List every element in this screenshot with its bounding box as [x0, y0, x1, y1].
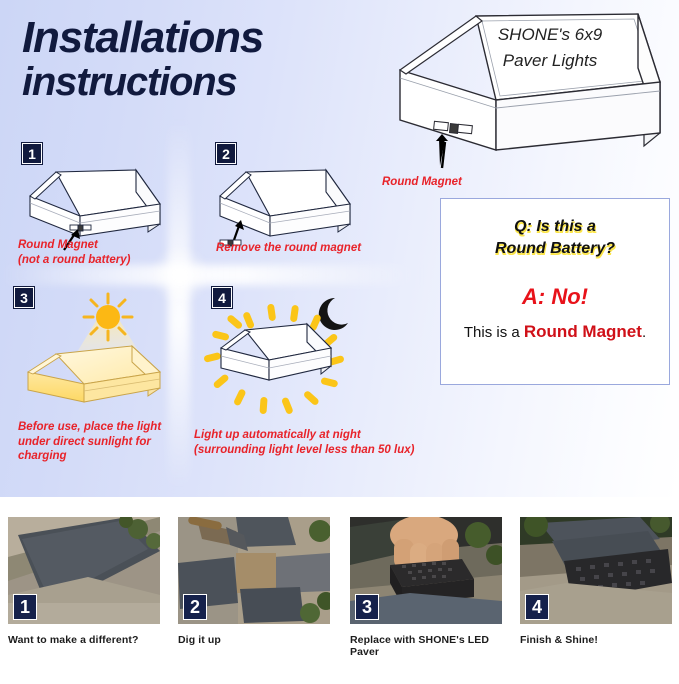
photo-badge-2: 2: [183, 594, 207, 620]
paver-box-with-magnet-icon: [28, 168, 173, 248]
photo-cell-4: 4 Finish & Shine!: [520, 517, 672, 646]
step-2-caption: Remove the round magnet: [216, 241, 416, 256]
title-line-2: instructions: [22, 63, 402, 102]
qa-question-line-1: Q: Is this a: [495, 216, 615, 238]
step-1-illustration: [28, 168, 173, 248]
moon-icon: [319, 298, 348, 330]
qa-question-line-2: Round Battery?: [495, 238, 615, 260]
step-3-illustration: [22, 292, 187, 407]
photo-badge-3: 3: [355, 594, 379, 620]
glowing-paver-moon-icon: [185, 290, 370, 420]
photo-thumbnail-3: 3: [350, 517, 502, 624]
product-label-line-2: Paver Lights: [455, 48, 645, 74]
photo-cell-1: 1 Want to make a different?: [8, 517, 160, 646]
photo-caption-3: Replace with SHONE's LED Paver: [350, 634, 502, 658]
qa-statement-highlight: Round Magnet: [524, 322, 642, 341]
photo-caption-1: Want to make a different?: [8, 634, 160, 646]
step-badge-1: 1: [22, 143, 42, 164]
photo-thumbnail-1: 1: [8, 517, 160, 624]
round-magnet-detail: [70, 225, 91, 231]
step-4-caption: Light up automatically at night (surroun…: [194, 428, 434, 457]
photo-cell-2: 2 Dig it up: [178, 517, 330, 646]
photo-thumbnail-2: 2: [178, 517, 330, 624]
photo-badge-4: 4: [525, 594, 549, 620]
step-2-illustration: [218, 168, 363, 248]
sun-charging-paver-icon: [22, 292, 187, 407]
qa-statement-prefix: This is a: [464, 324, 524, 341]
sun-disc: [96, 305, 120, 329]
step-badge-2: 2: [216, 143, 236, 164]
product-illustration: SHONE's 6x9 Paver Lights: [398, 8, 670, 183]
step-1-caption: Round Magnet (not a round battery): [18, 238, 178, 267]
page-title: Installations instructions: [22, 16, 402, 102]
paver-box-magnet-removed-icon: [218, 168, 363, 248]
qa-answer: A: No!: [522, 284, 588, 310]
photo-strip: 1 Want to make a different?: [0, 505, 679, 684]
photo-cell-3: 3 Replace with SHONE's LED Paver: [350, 517, 502, 658]
product-magnet-caption: Round Magnet: [382, 176, 462, 188]
step-4-illustration: [185, 290, 370, 420]
photo-thumbnail-4: 4: [520, 517, 672, 624]
upper-panel: Installations instructions: [0, 0, 679, 497]
qa-question: Q: Is this a Round Battery?: [495, 216, 615, 260]
qa-statement-suffix: .: [642, 324, 646, 341]
photo-caption-2: Dig it up: [178, 634, 330, 646]
title-line-1: Installations: [22, 13, 263, 62]
product-label: SHONE's 6x9 Paver Lights: [455, 22, 645, 73]
qa-statement: This is a Round Magnet.: [464, 322, 646, 342]
infographic-page: Installations instructions: [0, 0, 679, 684]
photo-caption-4: Finish & Shine!: [520, 634, 672, 646]
light-glow-horizontal: [0, 265, 420, 285]
qa-card: Q: Is this a Round Battery? A: No! This …: [440, 198, 670, 385]
step-3-caption: Before use, place the light under direct…: [18, 420, 183, 464]
photo-badge-1: 1: [13, 594, 37, 620]
product-label-line-1: SHONE's 6x9: [455, 22, 645, 48]
